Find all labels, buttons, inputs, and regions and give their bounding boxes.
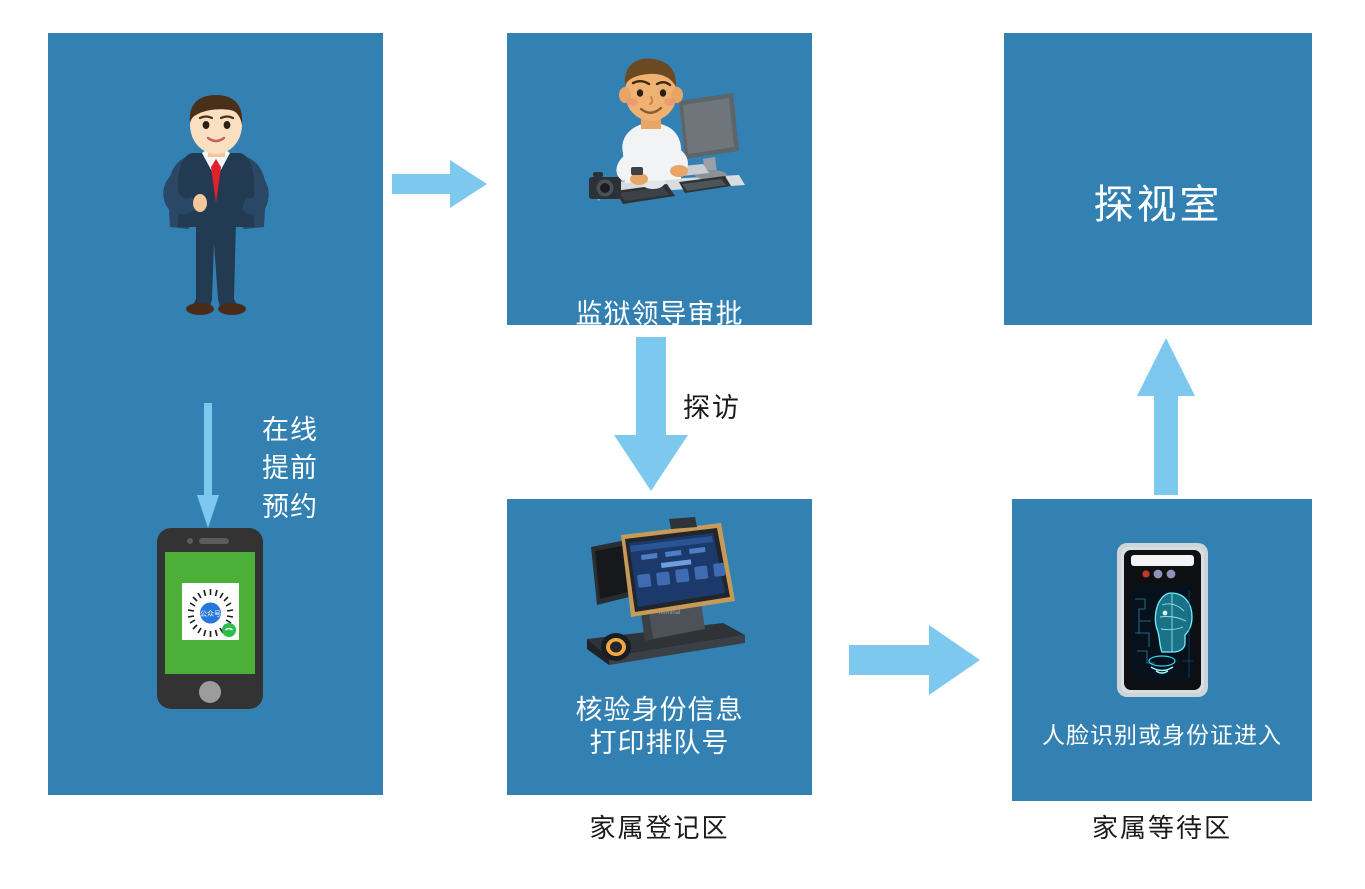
face-recognition-terminal-icon bbox=[1115, 541, 1210, 699]
self-service-kiosk-icon: Smart Terminal bbox=[569, 517, 759, 677]
visitor-reserve-label: 在线 提前 预约 bbox=[230, 411, 350, 526]
arrow-waiting-to-visitroom-up bbox=[1136, 338, 1196, 496]
diagram-canvas: 在线 提前 预约 bbox=[0, 0, 1365, 889]
smartphone-qrcode-icon: 公众号 bbox=[155, 526, 265, 711]
caption-registration-area: 家属登记区 bbox=[507, 808, 812, 845]
arrow-visitor-reserve-down bbox=[196, 403, 220, 528]
node-approval-panel[interactable]: 监狱领导审批 bbox=[507, 33, 812, 325]
caption-waiting-area: 家属等待区 bbox=[1012, 808, 1312, 845]
node-visitroom-panel[interactable]: 探视室 bbox=[1004, 33, 1312, 325]
node-registration-label: 核验身份信息 打印排队号 bbox=[507, 694, 812, 760]
officer-at-computer-icon bbox=[575, 55, 755, 230]
node-visitor-panel[interactable]: 在线 提前 预约 bbox=[48, 33, 383, 795]
arrow-registration-to-waiting-right bbox=[849, 624, 981, 696]
arrow-approval-to-registration-down bbox=[613, 337, 689, 492]
node-approval-label: 监狱领导审批 bbox=[507, 298, 812, 331]
node-registration-panel[interactable]: Smart Terminal bbox=[507, 499, 812, 795]
arrow-visitor-to-approval-right bbox=[392, 159, 488, 209]
node-waiting-label: 人脸识别或身份证进入 bbox=[1012, 721, 1312, 749]
svg-text:公众号: 公众号 bbox=[200, 610, 221, 618]
node-visitroom-label: 探视室 bbox=[1004, 181, 1312, 230]
businessman-icon bbox=[144, 93, 289, 323]
node-waiting-panel[interactable]: 人脸识别或身份证进入 bbox=[1012, 499, 1312, 801]
edge-label-visit: 探访 bbox=[683, 386, 741, 425]
